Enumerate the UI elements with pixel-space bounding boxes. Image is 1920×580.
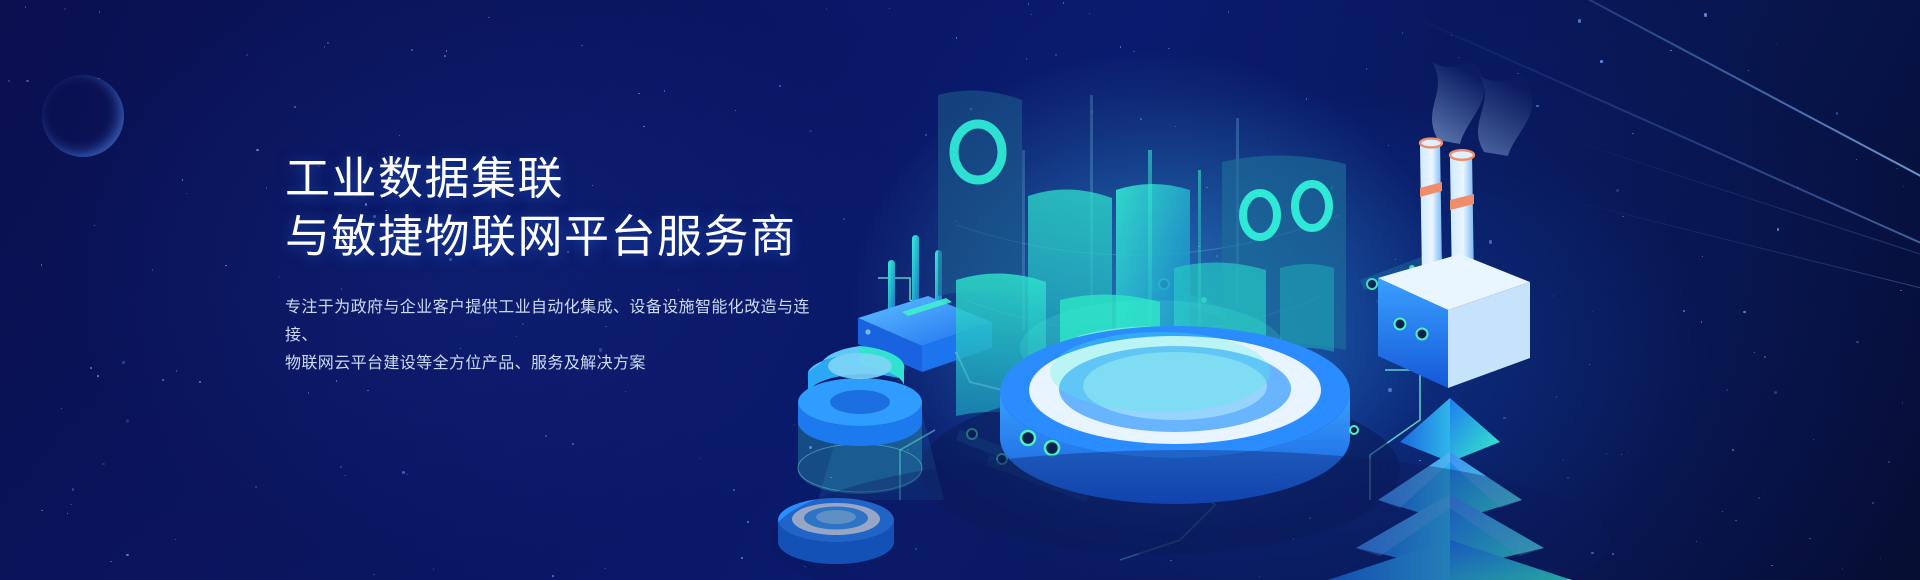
star-dot — [638, 93, 640, 95]
star-dot — [433, 568, 435, 570]
star-dot — [444, 55, 446, 57]
star-dot — [199, 381, 201, 383]
star-dot — [340, 466, 342, 468]
star-dot — [102, 463, 105, 466]
star-dot — [225, 265, 227, 267]
star-dot — [67, 513, 69, 515]
star-dot — [279, 276, 281, 278]
star-dot — [572, 443, 574, 445]
iot-illustration — [760, 0, 1920, 580]
subtitle-line-1: 专注于为政府与企业客户提供工业自动化集成、设备设施智能化改造与连接、 — [285, 294, 815, 350]
star-dot — [94, 225, 96, 227]
star-dot — [266, 187, 268, 189]
star-dot — [99, 11, 101, 13]
star-dot — [25, 6, 27, 8]
star-dot — [324, 46, 326, 48]
star-dot — [175, 539, 177, 541]
star-dot — [126, 419, 130, 423]
star-dot — [152, 269, 154, 271]
star-dot — [406, 474, 408, 476]
star-dot — [308, 392, 310, 394]
star-dot — [90, 367, 92, 369]
star-dot — [256, 149, 259, 152]
star-dot — [61, 408, 63, 410]
star-dot — [699, 458, 701, 460]
star-dot — [545, 435, 547, 437]
star-dot — [182, 179, 184, 181]
star-dot — [72, 488, 75, 491]
star-dot — [122, 361, 125, 364]
star-dot — [664, 90, 666, 92]
star-dot — [336, 380, 338, 382]
star-dot — [488, 17, 490, 19]
hero-banner: 工业数据集联 与敏捷物联网平台服务商 专注于为政府与企业客户提供工业自动化集成、… — [0, 0, 1920, 580]
star-dot — [643, 126, 645, 128]
star-dot — [97, 375, 99, 377]
star-dot — [367, 390, 369, 392]
star-dot — [162, 379, 164, 381]
star-dot — [604, 568, 606, 570]
star-dot — [26, 80, 29, 83]
star-dot — [581, 45, 583, 47]
star-dot — [402, 471, 406, 475]
subtitle-line-2: 物联网云平台建设等全方位产品、服务及解决方案 — [285, 350, 815, 378]
star-dot — [399, 135, 401, 137]
star-dot — [747, 521, 749, 523]
star-dot — [411, 49, 413, 51]
star-dot — [446, 50, 448, 52]
star-dot — [344, 475, 346, 477]
star-dot — [552, 575, 554, 577]
star-dot — [373, 574, 375, 576]
star-dot — [186, 193, 188, 195]
crescent-moon-icon — [42, 75, 124, 157]
star-dot — [110, 561, 112, 563]
star-dot — [176, 370, 178, 372]
star-dot — [327, 42, 330, 45]
star-dot — [246, 54, 248, 56]
star-dot — [255, 486, 257, 488]
star-dot — [41, 510, 43, 512]
star-dot — [41, 264, 43, 266]
star-dot — [8, 80, 10, 82]
star-dot — [735, 110, 737, 112]
star-dot — [294, 106, 297, 109]
star-dot — [70, 504, 72, 506]
star-dot — [64, 8, 66, 10]
star-dot — [625, 391, 627, 393]
star-dot — [741, 557, 743, 559]
star-dot — [733, 489, 735, 491]
star-dot — [126, 554, 129, 557]
